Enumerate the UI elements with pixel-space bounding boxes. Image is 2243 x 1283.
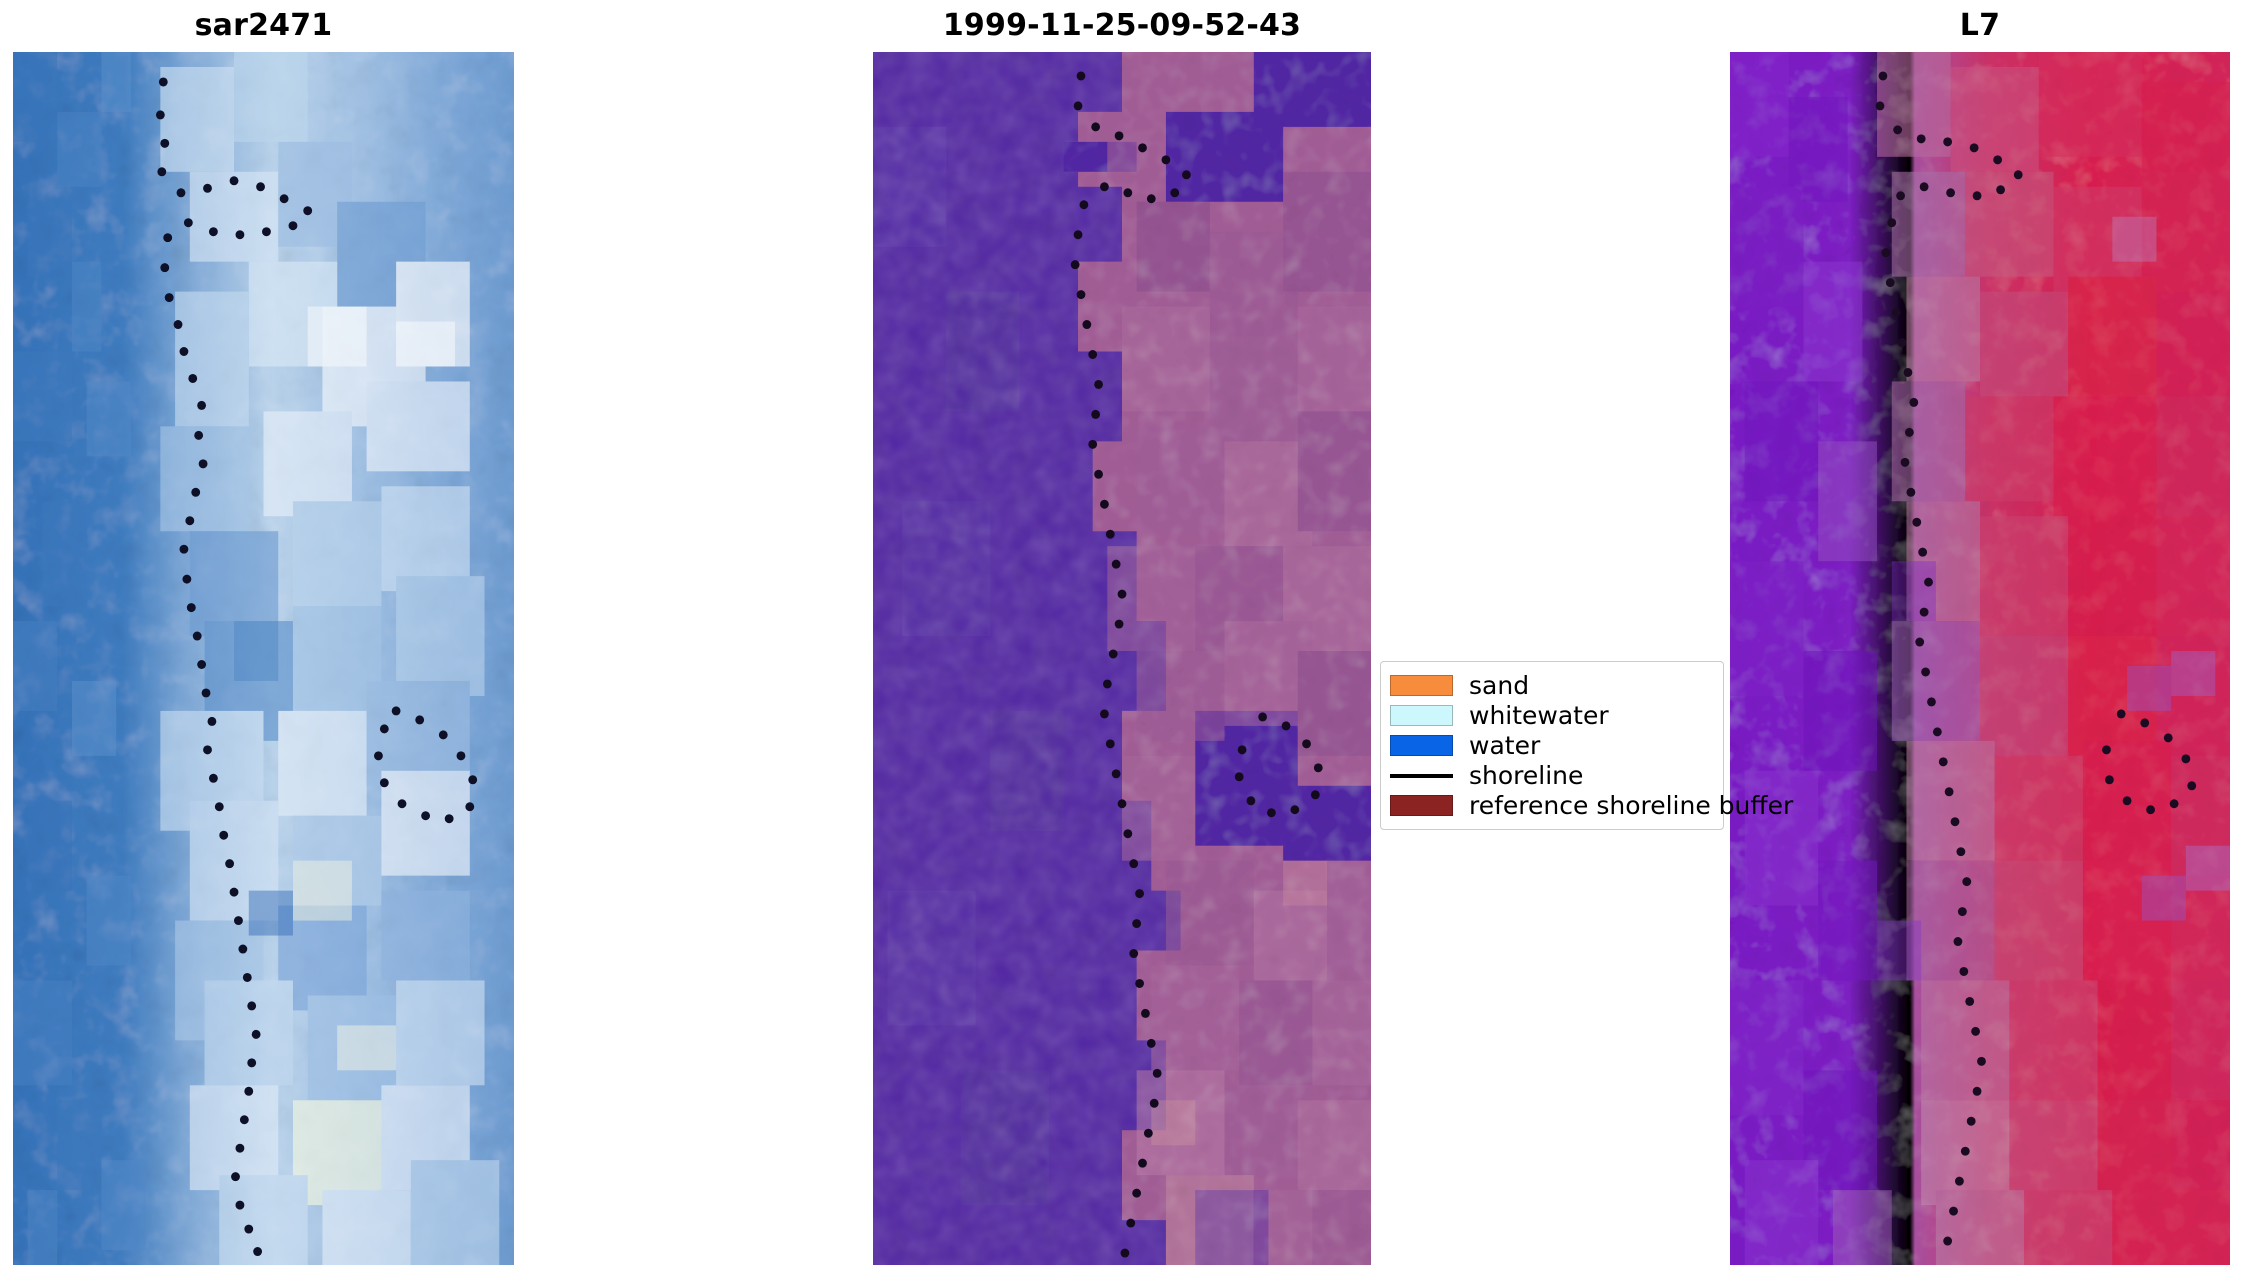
- legend-box[interactable]: sand whitewater water shoreline referenc…: [1380, 661, 1724, 830]
- legend-label-whitewater: whitewater: [1469, 703, 1609, 728]
- sar-raster: [13, 52, 514, 1265]
- panel-classified-image[interactable]: [873, 52, 1371, 1265]
- panel-title-sar: sar2471: [13, 8, 514, 43]
- legend-item-sand[interactable]: sand: [1390, 670, 1714, 700]
- panel-sar-image[interactable]: [13, 52, 514, 1265]
- sand-swatch-icon: [1390, 675, 1453, 696]
- legend-label-sand: sand: [1469, 673, 1529, 698]
- panel-title-classified: 1999-11-25-09-52-43: [873, 8, 1371, 43]
- legend-item-reference-shoreline-buffer[interactable]: reference shoreline buffer: [1390, 790, 1714, 820]
- panel-title-l7: L7: [1730, 8, 2230, 43]
- shoreline-line-icon: [1390, 765, 1453, 786]
- classified-raster: [873, 52, 1371, 1265]
- l7-raster: [1730, 52, 2230, 1265]
- legend-label-water: water: [1469, 733, 1540, 758]
- legend-label-reference-shoreline-buffer: reference shoreline buffer: [1469, 793, 1793, 818]
- legend-item-whitewater[interactable]: whitewater: [1390, 700, 1714, 730]
- legend-item-shoreline[interactable]: shoreline: [1390, 760, 1714, 790]
- water-swatch-icon: [1390, 735, 1453, 756]
- whitewater-swatch-icon: [1390, 705, 1453, 726]
- reference-shoreline-buffer-swatch-icon: [1390, 795, 1453, 816]
- legend-item-water[interactable]: water: [1390, 730, 1714, 760]
- figure-canvas: sar2471: [0, 0, 2243, 1283]
- panel-l7-image[interactable]: [1730, 52, 2230, 1265]
- legend-label-shoreline: shoreline: [1469, 763, 1583, 788]
